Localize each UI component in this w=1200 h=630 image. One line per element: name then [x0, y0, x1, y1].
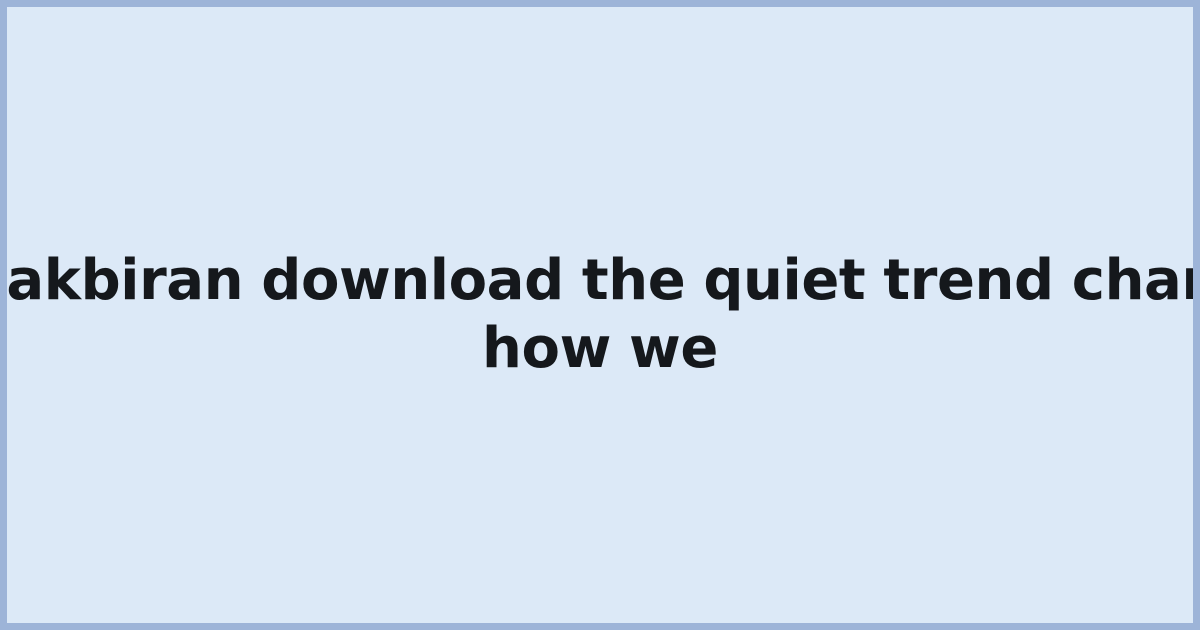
headline-line-2: how we — [0, 315, 1200, 383]
social-card: takbiran download the quiet trend changi… — [0, 0, 1200, 630]
headline-line-1: takbiran download the quiet trend changi… — [0, 247, 1200, 315]
headline-block: takbiran download the quiet trend changi… — [0, 247, 1200, 383]
